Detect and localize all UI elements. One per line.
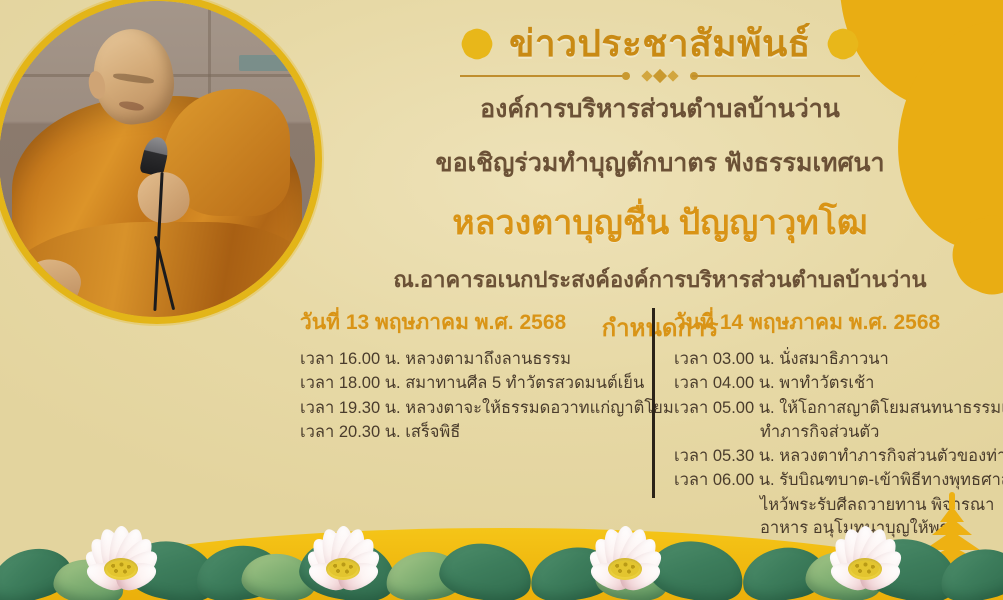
schedule-item: เวลา 19.30 น. หลวงตาจะให้ธรรมดอวาทแก่ญาต…	[300, 397, 638, 420]
monk-name: หลวงตาบุญชื่น ปัญญาวุทโฒ	[330, 195, 990, 249]
schedule-item: เวลา 18.00 น. สมาทานศีล 5 ทำวัตรสวดมนต์เ…	[300, 372, 638, 395]
invitation-line: ขอเชิญร่วมทำบุญตักบาตร ฟังธรรมเทศนา	[330, 143, 990, 183]
schedule-item: เวลา 03.00 น. นั่งสมาธิภาวนา	[674, 348, 1000, 371]
schedule-item: เวลา 16.00 น. หลวงตามาถึงลานธรรม	[300, 348, 638, 371]
title-divider	[460, 69, 860, 83]
lotus-flower	[46, 502, 196, 600]
page-title: ข่าวประชาสัมพันธ์	[509, 22, 811, 66]
column-divider	[652, 308, 655, 498]
schedule-item: เวลา 05.30 น. หลวงตาทำภารกิจส่วนตัวของท่…	[674, 445, 1000, 468]
announcement-poster: ข่าวประชาสัมพันธ์ องค์การบริหารส่วนตำบลบ…	[0, 0, 1003, 600]
lotus-flower	[550, 502, 700, 600]
schedule-column-day1: วันที่ 13 พฤษภาคม พ.ศ. 2568 เวลา 16.00 น…	[300, 306, 652, 446]
venue-line: ณ.อาคารอเนกประสงค์องค์การบริหารส่วนตำบลบ…	[330, 262, 990, 297]
schedule-item: เวลา 04.00 น. พาทำวัตรเช้า	[674, 372, 1000, 395]
day2-heading: วันที่ 14 พฤษภาคม พ.ศ. 2568	[674, 306, 1000, 339]
title-row: ข่าวประชาสัมพันธ์	[330, 22, 990, 66]
lotus-flower	[268, 502, 418, 600]
organization-name: องค์การบริหารส่วนตำบลบ้านว่าน	[330, 89, 990, 129]
schedule-item-continuation: ทำภารกิจส่วนตัว	[674, 421, 1000, 444]
quatrefoil-right-icon	[829, 30, 857, 58]
photo-gold-ring	[0, 0, 322, 324]
monk-portrait-photo	[0, 0, 322, 324]
schedule-item: เวลา 20.30 น. เสร็จพิธี	[300, 421, 638, 444]
lotus-flower	[790, 502, 940, 600]
schedule-item: เวลา 05.00 น. ให้โอกาสญาติโยมสนทนาธรรมแล…	[674, 397, 1000, 420]
header-block: ข่าวประชาสัมพันธ์ องค์การบริหารส่วนตำบลบ…	[330, 22, 990, 347]
day1-heading: วันที่ 13 พฤษภาคม พ.ศ. 2568	[300, 306, 638, 339]
bottom-lotus-band	[0, 480, 1003, 600]
quatrefoil-left-icon	[463, 30, 491, 58]
